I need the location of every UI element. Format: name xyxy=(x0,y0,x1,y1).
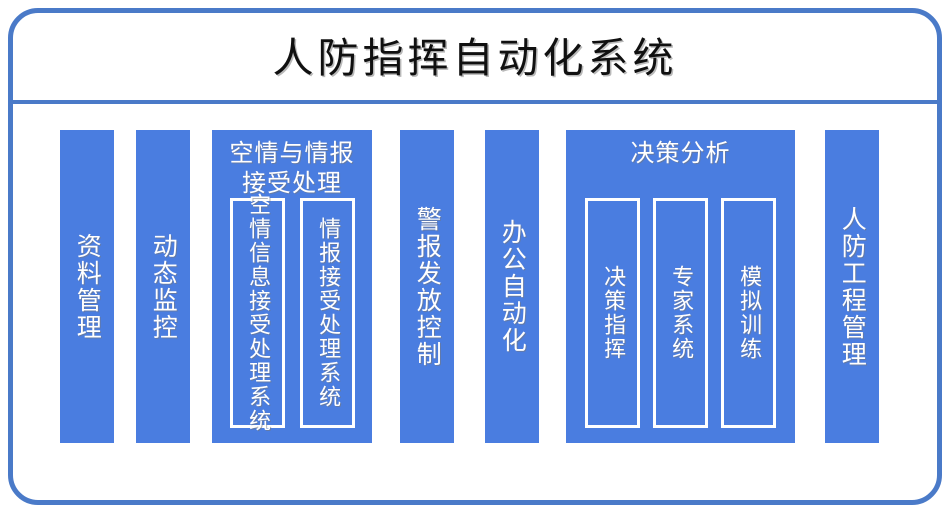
block-dynamic-monitoring[interactable]: 动态监控 xyxy=(136,130,190,443)
subblock-simulation-training[interactable]: 模拟训练 xyxy=(721,198,776,428)
civil-defense-command-automation-diagram: 人防指挥自动化系统 资料管理 动态监控 空情与情报 接受处理 空情信息接受处理系… xyxy=(0,0,952,515)
block-label: 人防工程管理 xyxy=(839,206,866,368)
group-title-line1: 决策分析 xyxy=(566,138,795,169)
block-label: 办公自动化 xyxy=(499,219,526,354)
block-civil-defense-engineering-management[interactable]: 人防工程管理 xyxy=(825,130,879,443)
title-divider xyxy=(10,100,942,104)
block-data-management[interactable]: 资料管理 xyxy=(60,130,114,443)
subblock-label: 空情信息接受处理系统 xyxy=(246,193,269,433)
group-air-intel-processing[interactable]: 空情与情报 接受处理 空情信息接受处理系统 情报接受处理系统 xyxy=(212,130,372,443)
block-label: 警报发放控制 xyxy=(414,206,441,368)
block-label: 动态监控 xyxy=(150,233,177,341)
subblock-decision-command[interactable]: 决策指挥 xyxy=(585,198,640,428)
subblock-label: 专家系统 xyxy=(669,265,692,361)
group-decision-analysis[interactable]: 决策分析 决策指挥 专家系统 模拟训练 xyxy=(566,130,795,443)
block-alarm-release-control[interactable]: 警报发放控制 xyxy=(400,130,454,443)
subblock-expert-system[interactable]: 专家系统 xyxy=(653,198,708,428)
subblock-label: 模拟训练 xyxy=(737,265,760,361)
subblock-air-info-receive-process-system[interactable]: 空情信息接受处理系统 xyxy=(230,198,285,428)
subblock-label: 情报接受处理系统 xyxy=(316,217,339,409)
diagram-title: 人防指挥自动化系统 xyxy=(8,24,942,84)
subblock-intel-receive-process-system[interactable]: 情报接受处理系统 xyxy=(300,198,355,428)
block-label: 资料管理 xyxy=(74,233,101,341)
group-title-line1: 空情与情报 xyxy=(212,138,372,169)
group-title-line2: 接受处理 xyxy=(212,168,372,199)
subblock-label: 决策指挥 xyxy=(601,265,624,361)
block-office-automation[interactable]: 办公自动化 xyxy=(485,130,539,443)
